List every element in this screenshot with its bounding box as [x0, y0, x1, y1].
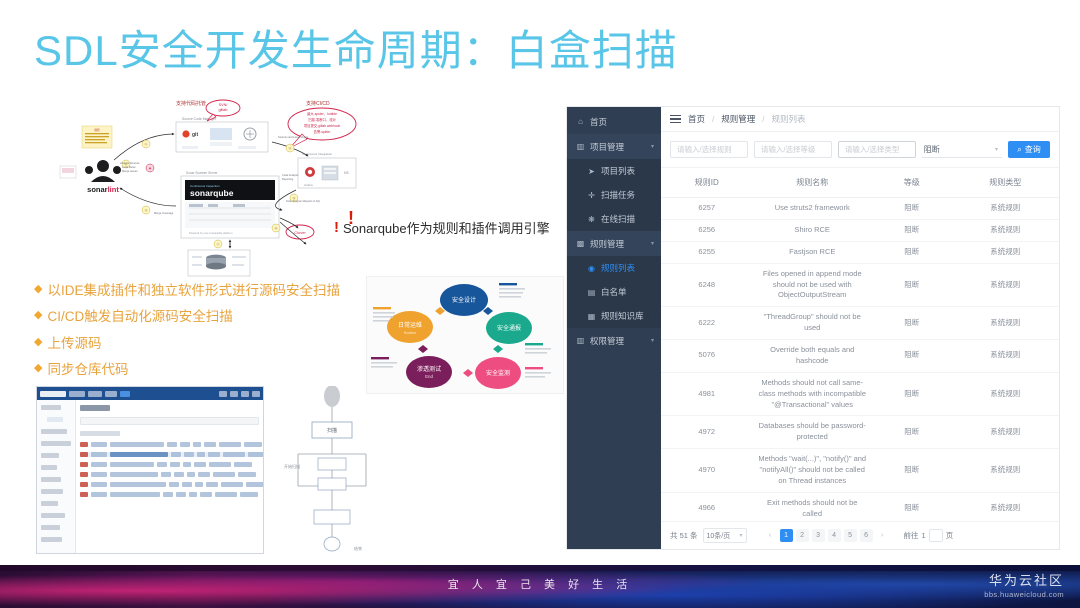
- search-button[interactable]: ⌕ 查询: [1008, 141, 1050, 158]
- plus-icon: ✛: [587, 191, 596, 200]
- bullet-text: CI/CD触发自动化源码安全扫描: [47, 308, 232, 325]
- footer-tagline: 宜 人 宜 己 美 好 生 活: [448, 576, 632, 592]
- cell-rule-name: Override both equals and hashcode: [753, 340, 872, 373]
- column-header-rule-name: 规则名称: [753, 168, 872, 198]
- cell-level: 阻断: [872, 416, 952, 449]
- table-row[interactable]: 4972 Databases should be password-protec…: [661, 416, 1059, 449]
- table-row: [80, 442, 264, 447]
- list-item: ◆ CI/CD触发自动化源码安全扫描: [34, 308, 364, 325]
- cell-rule-type: 系统规则: [952, 241, 1059, 263]
- svg-text:Reporting: Reporting: [282, 177, 294, 181]
- cell-rule-type: 系统规则: [952, 340, 1059, 373]
- list-icon: ▤: [587, 288, 596, 297]
- chevron-down-icon: ▾: [740, 532, 743, 539]
- table-row: [80, 482, 264, 487]
- rules-table-container: 规则ID 规则名称 等级 规则类型 6257 Use struts2 frame…: [661, 168, 1059, 521]
- screenshot-sidebar: [37, 400, 76, 554]
- table-row[interactable]: 4966 Exit methods should not be called 阻…: [661, 492, 1059, 521]
- svg-text:Sources and Local Scripts: Sources and Local Scripts: [278, 135, 309, 139]
- cell-rule-id: 4981: [661, 372, 753, 416]
- folder-icon: ▥: [576, 142, 585, 151]
- table-row[interactable]: 5076 Override both equals and hashcode 阻…: [661, 340, 1059, 373]
- admin-panel: ⌂ 首页 ▥ 项目管理 ▾ ➤ 项目列表 ✛ 扫描任务 ❋ 在线扫描: [566, 106, 1060, 550]
- svg-text:规则: 规则: [94, 128, 100, 132]
- cell-rule-type: 系统规则: [952, 416, 1059, 449]
- flow-diagram: 扫描 开始扫描 结束: [278, 386, 386, 554]
- sidebar-item-label: 项目管理: [590, 141, 624, 153]
- cell-rule-type: 系统规则: [952, 219, 1059, 241]
- svg-text:Merge Coverage: Merge Coverage: [154, 211, 174, 215]
- svg-text:Jenkins: Jenkins: [304, 183, 313, 187]
- screenshot-titlebar: [37, 387, 263, 400]
- sidebar-submenu-project: ➤ 项目列表 ✛ 扫描任务 ❋ 在线扫描: [567, 159, 661, 231]
- label-cicd: 支持CI/CD: [306, 100, 330, 107]
- svg-text:④: ④: [288, 146, 291, 150]
- sidebar-item-online-scan[interactable]: ❋ 在线扫描: [567, 207, 661, 231]
- breadcrumb-item-0[interactable]: 首页: [688, 113, 705, 125]
- rules-table: 规则ID 规则名称 等级 规则类型 6257 Use struts2 frame…: [661, 168, 1059, 521]
- cell-rule-type: 系统规则: [952, 372, 1059, 416]
- breadcrumb-separator: /: [712, 115, 714, 124]
- circle-diagram: 安全设计 日常运维 Routine 安全通报 渗透测试 End 安全监测: [366, 276, 564, 394]
- goto-input[interactable]: [929, 529, 943, 542]
- node-label-1: 日常运维: [398, 321, 422, 329]
- table-head: 规则ID 规则名称 等级 规则类型: [661, 168, 1059, 198]
- table-row[interactable]: 6257 Use struts2 framework 阻断 系统规则: [661, 198, 1059, 220]
- bullet-text: 上传源码: [47, 335, 101, 352]
- chart-icon: ▥: [576, 336, 585, 345]
- search-icon: ⌕: [1017, 145, 1021, 155]
- cell-rule-name: Methods "wait(...)", "notify()" and "not…: [753, 449, 872, 493]
- sidebar-item-label: 规则管理: [590, 238, 624, 250]
- table-row[interactable]: 6222 "ThreadGroup" should not be used 阻断…: [661, 307, 1059, 340]
- cell-rule-name: "ThreadGroup" should not be used: [753, 307, 872, 340]
- cell-level: 阻断: [872, 307, 952, 340]
- bullet-list: ◆ 以IDE集成插件和独立软件形式进行源码安全扫描 ◆ CI/CD触发自动化源码…: [34, 282, 364, 387]
- svg-text:Routine: Routine: [404, 331, 416, 335]
- svg-text:sonarqube: sonarqube: [190, 188, 234, 198]
- tool-screenshot: [36, 386, 264, 554]
- node-label-4: 安全监测: [486, 369, 510, 377]
- cell-rule-id: 6222: [661, 307, 753, 340]
- chevron-down-icon: ▾: [651, 240, 654, 247]
- bullet-text: 以IDE集成插件和独立软件形式进行源码安全扫描: [47, 282, 340, 299]
- sidebar-item-permission-management[interactable]: ▥ 权限管理 ▾: [567, 328, 661, 353]
- table-row[interactable]: 6256 Shiro RCE 阻断 系统规则: [661, 219, 1059, 241]
- svg-text:扫描: 扫描: [327, 427, 337, 434]
- table-row[interactable]: 4970 Methods "wait(...)", "notify()" and…: [661, 449, 1059, 493]
- sonarqube-caption: ! Sonarqube作为规则和插件调用引擎: [334, 218, 550, 237]
- screenshot-main: [76, 400, 264, 554]
- cell-rule-id: 4966: [661, 492, 753, 521]
- node-label-0: 安全设计: [452, 296, 476, 304]
- chevron-down-icon: ▾: [995, 146, 998, 153]
- svg-text:开始扫描: 开始扫描: [284, 463, 300, 469]
- svg-text:Analyze Sources: Analyze Sources: [120, 161, 140, 165]
- column-header-level: 等级: [872, 168, 952, 198]
- type-search-input[interactable]: 请输入/选择类型: [838, 141, 916, 158]
- cell-level: 阻断: [872, 219, 952, 241]
- goto-label: 前往: [904, 530, 919, 541]
- svg-text:扫描-零断口、流对: 扫描-零断口、流对: [308, 117, 336, 122]
- cell-level: 阻断: [872, 492, 952, 521]
- table-row[interactable]: 4981 Methods should not call same-class …: [661, 372, 1059, 416]
- svg-text:Code Analysis: Code Analysis: [282, 173, 299, 177]
- panel-sidebar: ⌂ 首页 ▥ 项目管理 ▾ ➤ 项目列表 ✛ 扫描任务 ❋ 在线扫描: [567, 107, 661, 549]
- table-row: [80, 492, 264, 497]
- column-header-rule-id: 规则ID: [661, 168, 753, 198]
- cell-rule-id: 4970: [661, 449, 753, 493]
- cell-level: 阻断: [872, 449, 952, 493]
- cell-rule-name: Methods should not call same-class metho…: [753, 372, 872, 416]
- sidebar-item-label: 在线扫描: [601, 213, 635, 225]
- total-count-label: 共 51 条: [670, 530, 698, 541]
- svg-text:①: ①: [144, 142, 147, 146]
- exclamation-icon: !: [334, 219, 339, 236]
- pagination: 共 51 条 10条/页 ▾ ‹ 1 2 3 4 5 6 › 前往 1: [661, 521, 1059, 549]
- cell-rule-name: Fastjson RCE: [753, 241, 872, 263]
- svg-text:Merge Issues: Merge Issues: [122, 169, 138, 173]
- svg-text:SVN/: SVN/: [219, 103, 229, 107]
- cell-level: 阻断: [872, 340, 952, 373]
- cell-rule-type: 系统规则: [952, 492, 1059, 521]
- level-select-value: 阻断: [924, 144, 940, 155]
- svg-text:★: ★: [148, 166, 151, 170]
- level-select[interactable]: 阻断 ▾: [922, 141, 1002, 158]
- filter-bar: 请输入/选择规则 请输入/选择等级 请输入/选择类型 阻断 ▾ ⌕ 查询: [661, 132, 1059, 168]
- home-icon: ⌂: [576, 117, 585, 126]
- svg-text:最大-spider、hubble: 最大-spider、hubble: [307, 111, 337, 116]
- hamburger-icon[interactable]: [670, 115, 681, 124]
- cell-rule-name: Use struts2 framework: [753, 198, 872, 220]
- diamond-bullet-icon: ◆: [34, 335, 42, 351]
- scan-icon: ❋: [587, 215, 596, 224]
- table-row: [80, 452, 264, 457]
- cell-rule-type: 系统规则: [952, 198, 1059, 220]
- sidebar-item-project-list[interactable]: ➤ 项目列表: [567, 159, 661, 183]
- book-icon: ▦: [587, 312, 596, 321]
- diamond-bullet-icon: ◆: [34, 361, 42, 377]
- screenshot-body: [37, 400, 263, 554]
- chevron-down-icon: ▾: [651, 143, 654, 150]
- brand-url: bbs.huaweicloud.com: [984, 590, 1064, 599]
- sidebar-item-home[interactable]: ⌂ 首页: [567, 109, 661, 134]
- node-label-3: 渗透测试: [417, 365, 441, 373]
- svg-text:sonarlint: sonarlint: [87, 185, 119, 194]
- page-button-4[interactable]: 4: [828, 529, 841, 542]
- sidebar-item-label: 规则列表: [601, 262, 635, 274]
- cell-level: 阻断: [872, 372, 952, 416]
- sidebar-item-label: 权限管理: [590, 335, 624, 347]
- architecture-diagram: Source Code Manager git SVN/ gitlab 规则: [58, 98, 358, 278]
- page-button-3[interactable]: 3: [812, 529, 825, 542]
- svg-text:③: ③: [144, 208, 147, 212]
- cell-rule-name: Shiro RCE: [753, 219, 872, 241]
- diamond-bullet-icon: ◆: [34, 282, 42, 298]
- footer-banner: 宜 人 宜 己 美 好 生 活 华为云社区 bbs.huaweicloud.co…: [0, 565, 1080, 608]
- list-item: ◆ 同步仓库代码: [34, 361, 364, 378]
- svg-text:MS: MS: [344, 171, 349, 175]
- prev-page-button[interactable]: ‹: [764, 529, 777, 542]
- sidebar-item-label: 白名单: [601, 286, 627, 298]
- sidebar-item-project-management[interactable]: ▥ 项目管理 ▾: [567, 134, 661, 159]
- cell-rule-type: 系统规则: [952, 307, 1059, 340]
- footer-brand: 华为云社区 bbs.huaweicloud.com: [984, 570, 1064, 599]
- label-code-hosting: 支持代码托管: [176, 100, 206, 107]
- next-page-button[interactable]: ›: [876, 529, 889, 542]
- node-label-2: 安全通报: [497, 324, 521, 332]
- sidebar-item-label: 首页: [590, 116, 607, 128]
- cell-rule-name: Databases should be password-protected: [753, 416, 872, 449]
- circle-diagram-svg: 安全设计 日常运维 Routine 安全通报 渗透测试 End 安全监测: [367, 277, 563, 393]
- brand-name: 华为云社区: [984, 570, 1064, 589]
- svg-text:Sonar Scanner Server: Sonar Scanner Server: [186, 171, 218, 175]
- cell-rule-id: 6257: [661, 198, 753, 220]
- cell-rule-id: 5076: [661, 340, 753, 373]
- cell-rule-id: 4972: [661, 416, 753, 449]
- table-body: 6257 Use struts2 framework 阻断 系统规则 6256 …: [661, 198, 1059, 522]
- sidebar-item-label: 项目列表: [601, 165, 635, 177]
- footer-top-band: [0, 565, 1080, 571]
- sidebar-item-rule-management[interactable]: ▩ 规则管理 ▾: [567, 231, 661, 256]
- cell-level: 阻断: [872, 198, 952, 220]
- svg-text:Clover: Clover: [294, 230, 306, 235]
- page-button-5[interactable]: 5: [844, 529, 857, 542]
- svg-text:Scan Program Reports to SQ: Scan Program Reports to SQ: [286, 199, 320, 203]
- bullet-text: 同步仓库代码: [47, 361, 128, 378]
- architecture-svg: Source Code Manager git SVN/ gitlab 规则: [58, 98, 358, 278]
- cell-rule-type: 系统规则: [952, 449, 1059, 493]
- table-row[interactable]: 6248 Files opened in append mode should …: [661, 263, 1059, 307]
- table-row: [80, 472, 264, 477]
- cell-rule-id: 6248: [661, 263, 753, 307]
- page-button-6[interactable]: 6: [860, 529, 873, 542]
- table-row: [80, 462, 264, 467]
- chevron-down-icon: ▾: [651, 337, 654, 344]
- list-item: ◆ 以IDE集成插件和独立软件形式进行源码安全扫描: [34, 282, 364, 299]
- sidebar-item-rule-kb[interactable]: ▦ 规则知识库: [567, 304, 661, 328]
- page-button-1[interactable]: 1: [780, 529, 793, 542]
- svg-text:Powered by your sustainable pl: Powered by your sustainable platform: [189, 231, 232, 235]
- goto-value: 1: [922, 531, 926, 540]
- panel-topbar: 首页 / 规则管理 / 规则列表: [661, 107, 1059, 132]
- breadcrumb-item-2: 规则列表: [772, 113, 806, 125]
- svg-text:告警-spider: 告警-spider: [314, 129, 332, 134]
- cell-rule-id: 6255: [661, 241, 753, 263]
- page-button-2[interactable]: 2: [796, 529, 809, 542]
- cell-rule-name: Exit methods should not be called: [753, 492, 872, 521]
- sidebar-submenu-rule: ◉ 规则列表 ▤ 白名单 ▦ 规则知识库: [567, 256, 661, 328]
- sidebar-item-whitelist[interactable]: ▤ 白名单: [567, 280, 661, 304]
- svg-text:gitlab: gitlab: [218, 108, 227, 112]
- cell-rule-id: 6256: [661, 219, 753, 241]
- goto-page: 前往 1 页: [904, 529, 954, 542]
- cell-level: 阻断: [872, 241, 952, 263]
- cell-level: 阻断: [872, 263, 952, 307]
- breadcrumb-item-1[interactable]: 规则管理: [721, 113, 755, 125]
- cell-rule-type: 系统规则: [952, 263, 1059, 307]
- diamond-bullet-icon: ◆: [34, 308, 42, 324]
- panel-content: 首页 / 规则管理 / 规则列表 请输入/选择规则 请输入/选择等级 请输入/选…: [661, 107, 1059, 549]
- svg-text:⑦: ⑦: [216, 242, 219, 246]
- sidebar-item-label: 规则知识库: [601, 310, 644, 322]
- flow-diagram-svg: 扫描 开始扫描 结束: [278, 386, 386, 554]
- sonarqube-caption-text: Sonarqube作为规则和插件调用引擎: [343, 218, 550, 237]
- sidebar-item-scan-task[interactable]: ✛ 扫描任务: [567, 183, 661, 207]
- svg-text:git: git: [192, 132, 198, 138]
- svg-text:项目提交-gitlab webhook: 项目提交-gitlab webhook: [304, 123, 341, 128]
- table-header-row: 规则ID 规则名称 等级 规则类型: [661, 168, 1059, 198]
- breadcrumb-separator: /: [762, 115, 764, 124]
- grid-icon: ▩: [576, 239, 585, 248]
- sidebar-item-label: 扫描任务: [601, 189, 635, 201]
- slide-root: SDL安全开发生命周期：白盒扫描 Source Code Manager git…: [0, 0, 1080, 608]
- level-search-input[interactable]: 请输入/选择等级: [754, 141, 832, 158]
- page-size-select[interactable]: 10条/页 ▾: [703, 528, 747, 543]
- cell-rule-name: Files opened in append mode should not b…: [753, 263, 872, 307]
- goto-unit: 页: [946, 530, 954, 541]
- table-row[interactable]: 6255 Fastjson RCE 阻断 系统规则: [661, 241, 1059, 263]
- globe-icon: ◉: [587, 264, 596, 273]
- send-icon: ➤: [587, 167, 596, 176]
- search-button-label: 查询: [1025, 144, 1041, 155]
- page-size-value: 10条/页: [707, 531, 731, 541]
- column-header-rule-type: 规则类型: [952, 168, 1059, 198]
- sidebar-item-rule-list[interactable]: ◉ 规则列表: [567, 256, 661, 280]
- svg-text:结束: 结束: [354, 545, 362, 551]
- svg-text:Local Rules: Local Rules: [122, 165, 136, 169]
- svg-text:End: End: [425, 374, 433, 379]
- page-title: SDL安全开发生命周期：白盒扫描: [34, 26, 678, 76]
- page-list: ‹ 1 2 3 4 5 6 ›: [764, 529, 889, 542]
- rule-search-input[interactable]: 请输入/选择规则: [670, 141, 748, 158]
- list-item: ◆ 上传源码: [34, 335, 364, 352]
